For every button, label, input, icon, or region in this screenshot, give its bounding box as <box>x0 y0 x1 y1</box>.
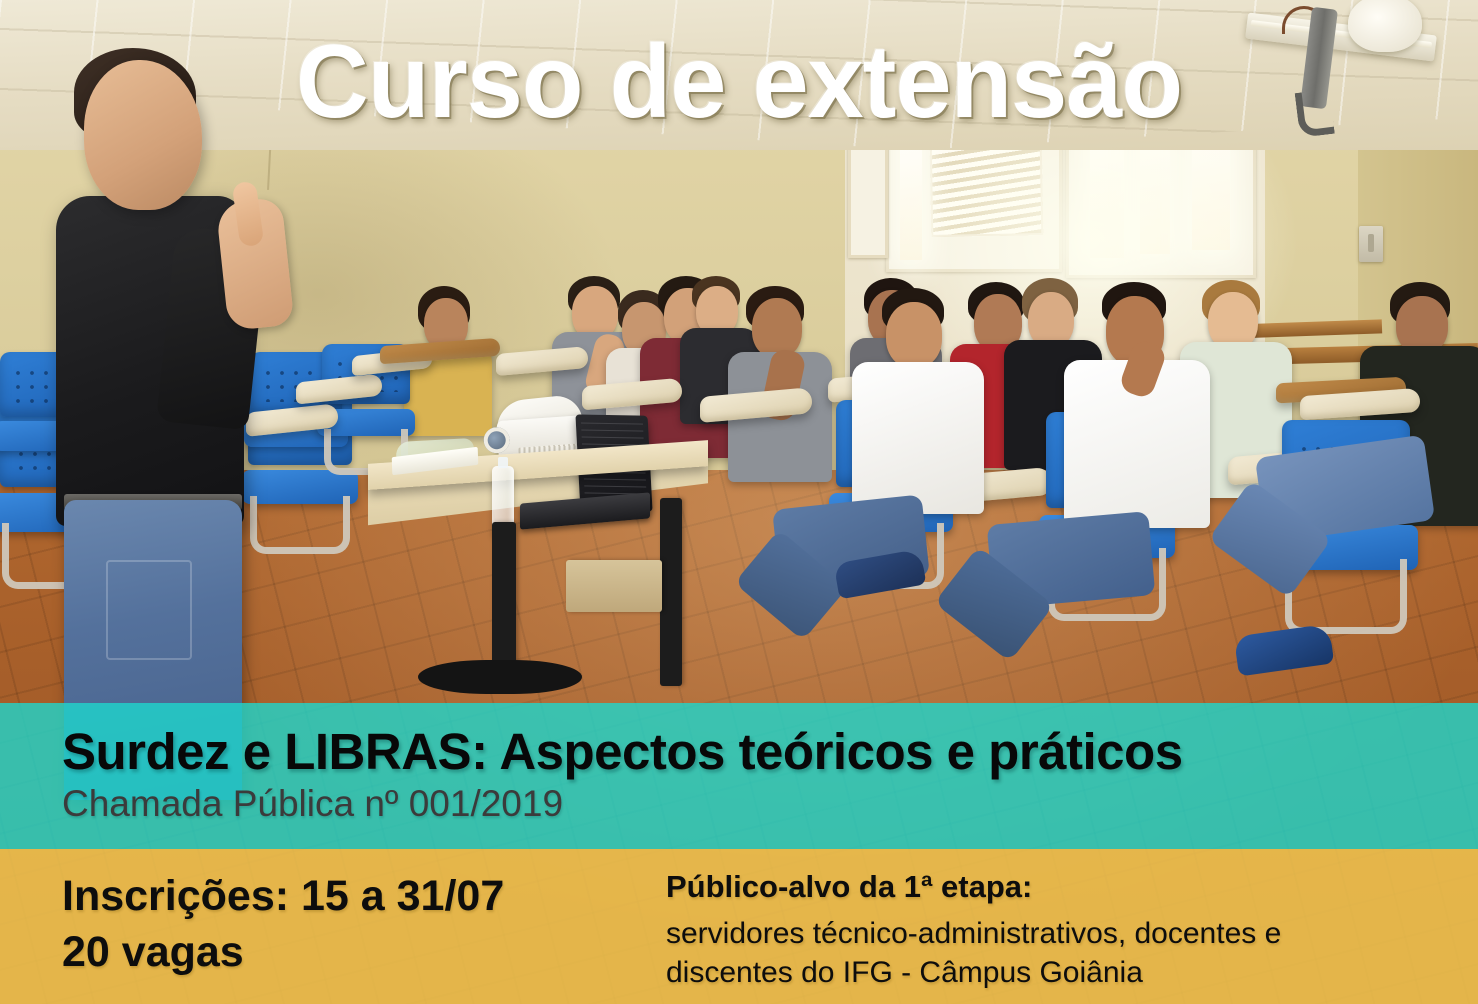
audience-line-1: servidores técnico-administrativos, doce… <box>666 914 1281 954</box>
chair-legs <box>250 496 350 554</box>
audience-line-2: discentes do IFG - Câmpus Goiânia <box>666 953 1281 993</box>
table-leg-left <box>492 522 516 674</box>
audience-heading: Público-alvo da 1ª etapa: <box>666 866 1281 908</box>
enrollment-info: Inscrições: 15 a 31/07 20 vagas <box>62 869 504 981</box>
torso <box>852 362 984 514</box>
course-subtitle: Chamada Pública nº 001/2019 <box>62 783 563 825</box>
head <box>886 302 942 368</box>
table-panel <box>566 560 662 612</box>
enrollment-seats: 20 vagas <box>62 925 504 981</box>
page-title: Curso de extensão <box>22 28 1456 137</box>
poster: Curso de extensão Surdez e LIBRAS: Aspec… <box>0 0 1478 1004</box>
table-foot <box>418 660 582 694</box>
head <box>752 298 802 358</box>
audience-info: Público-alvo da 1ª etapa: servidores téc… <box>666 866 1281 993</box>
enrollment-dates: Inscrições: 15 a 31/07 <box>62 869 504 925</box>
audience-body: servidores técnico-administrativos, doce… <box>666 914 1281 993</box>
table-leg-right <box>660 498 682 686</box>
course-title: Surdez e LIBRAS: Aspectos teóricos e prá… <box>62 722 1183 781</box>
light-switch-plate <box>1359 226 1383 262</box>
